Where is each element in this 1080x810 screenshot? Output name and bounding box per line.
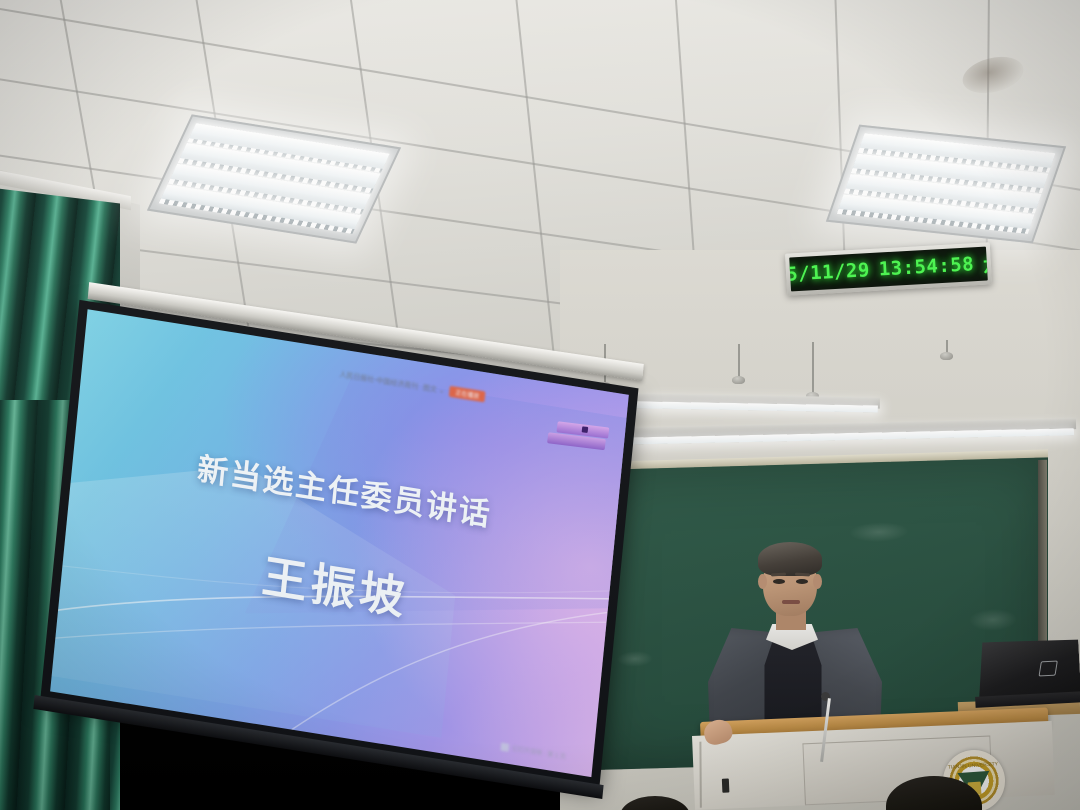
slide-topbar-chip: 正在播放 [449,386,486,403]
clock-date: 25/11/29 [789,259,870,286]
led-clock-display: 25/11/29 13:54:58 六 [789,247,988,292]
clock-weekday: 六 [982,249,987,277]
hair [758,542,822,576]
emblem-ring-text: TIANJIN UNIVERSITY [948,761,999,770]
lecture-hall-photo: 25/11/29 13:54:58 六 [0,0,1080,810]
slide-topbar-menu: 图文 ⌄ [422,383,445,396]
laptop-lid [976,637,1080,698]
eye-left [773,579,785,584]
clock-time: 13:54:58 [878,253,975,280]
mouth [782,600,800,604]
lectern-seam [699,742,701,808]
ear-left [758,574,767,589]
laptop[interactable] [976,637,1080,712]
ear-right [813,574,822,589]
projected-slide: 人民日报社-中国经济周刊 图文 ⌄ 正在播放 新当选主任委员讲话 王振坡 幻灯片… [50,309,629,777]
hp-logo-icon [1038,660,1057,676]
lectern-cable-slot [722,778,730,792]
eye-right [796,579,808,584]
